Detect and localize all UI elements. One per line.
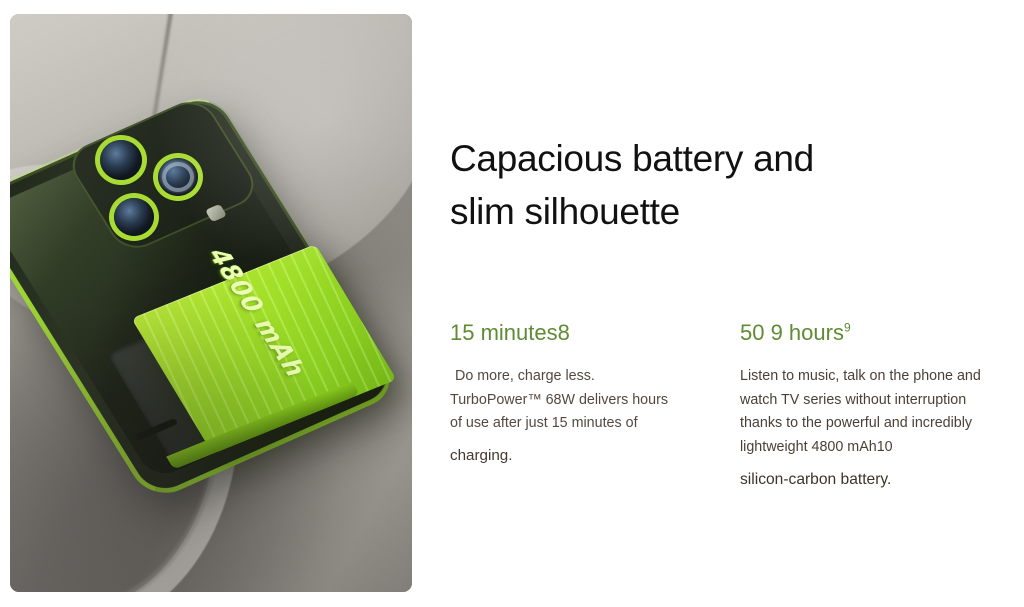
stat-description-line: TurboPower™ 68W delivers hours xyxy=(450,389,720,413)
image-vignette xyxy=(10,14,412,592)
stat-title-text: 50 9 hours xyxy=(740,320,844,345)
stat-block-battery-life: 50 9 hours9 Listen to music, talk on the… xyxy=(740,318,1024,492)
product-image: 4800 mAh xyxy=(10,14,412,592)
stat-description-line: watch TV series without interruption xyxy=(740,389,1024,413)
stat-description-line: Do more, charge less. xyxy=(450,365,720,389)
stat-description-line: of use after just 15 minutes of xyxy=(450,412,720,436)
stat-footnote-marker: 9 xyxy=(844,321,851,335)
stat-title: 15 minutes8 xyxy=(450,318,720,348)
page-title-line-1: Capacious battery and xyxy=(450,132,1010,185)
stat-footnote-marker: 8 xyxy=(558,320,570,345)
stat-description-line: lightweight 4800 mAh10 xyxy=(740,436,1024,460)
stat-description-line: thanks to the powerful and incredibly xyxy=(740,412,1024,436)
page-title-line-2: slim silhouette xyxy=(450,185,1010,238)
product-feature-page: 4800 mAh Capacious battery and slim silh… xyxy=(0,0,1024,607)
stat-block-fast-charging: 15 minutes8 Do more, charge less. TurboP… xyxy=(450,318,720,467)
content-column: Capacious battery and slim silhouette 15… xyxy=(450,0,1024,607)
stat-description: Listen to music, talk on the phone and w… xyxy=(740,365,1024,492)
page-title: Capacious battery and slim silhouette xyxy=(450,132,1010,238)
stat-description: Do more, charge less. TurboPower™ 68W de… xyxy=(450,365,720,467)
stat-description-line: charging. xyxy=(450,444,720,468)
stat-title: 50 9 hours9 xyxy=(740,318,1024,348)
stat-title-text: 15 minutes xyxy=(450,320,558,345)
stat-description-line: Listen to music, talk on the phone and xyxy=(740,365,1024,389)
stat-description-line: silicon-carbon battery. xyxy=(740,468,1024,492)
